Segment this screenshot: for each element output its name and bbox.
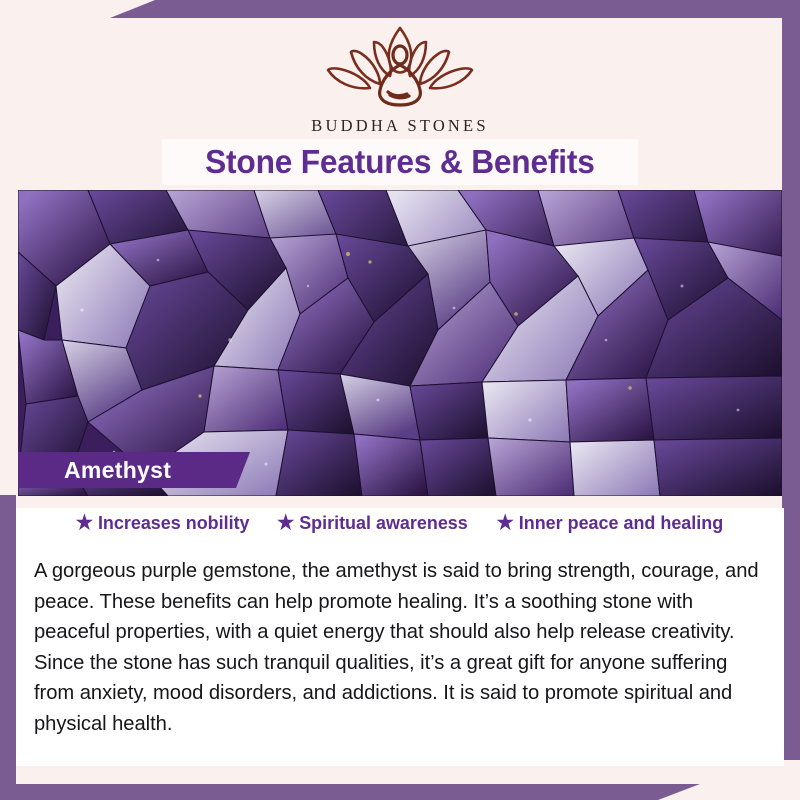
page-title: Stone Features & Benefits [205,143,595,181]
star-icon: ★ [497,513,514,533]
stone-name: Amethyst [64,457,171,484]
benefit-label: Inner peace and healing [519,512,723,534]
benefit-item: ★ Increases nobility [76,512,250,534]
lotus-meditation-icon [304,22,496,114]
benefit-label: Spiritual awareness [300,512,469,534]
star-icon: ★ [277,513,294,533]
frame-bottom-band [0,784,700,800]
benefits-list: ★ Increases nobility ★ Spiritual awarene… [16,512,784,534]
page-title-band: Stone Features & Benefits [162,139,638,185]
amethyst-crystal-illustration [18,190,782,496]
infographic-page: BUDDHA STONES Stone Features & Benefits [0,0,800,800]
benefit-item: ★ Inner peace and healing [497,512,724,534]
frame-top-band [110,0,800,18]
frame-left-band [0,495,16,785]
benefit-item: ★ Spiritual awareness [277,512,468,534]
brand-name: BUDDHA STONES [0,116,800,136]
benefit-label: Increases nobility [98,512,250,534]
brand-logo: BUDDHA STONES [0,22,800,136]
amethyst-hero-image [18,190,782,496]
stone-name-banner: Amethyst [18,452,250,488]
stone-description: A gorgeous purple gemstone, the amethyst… [34,556,761,740]
star-icon: ★ [76,513,93,533]
